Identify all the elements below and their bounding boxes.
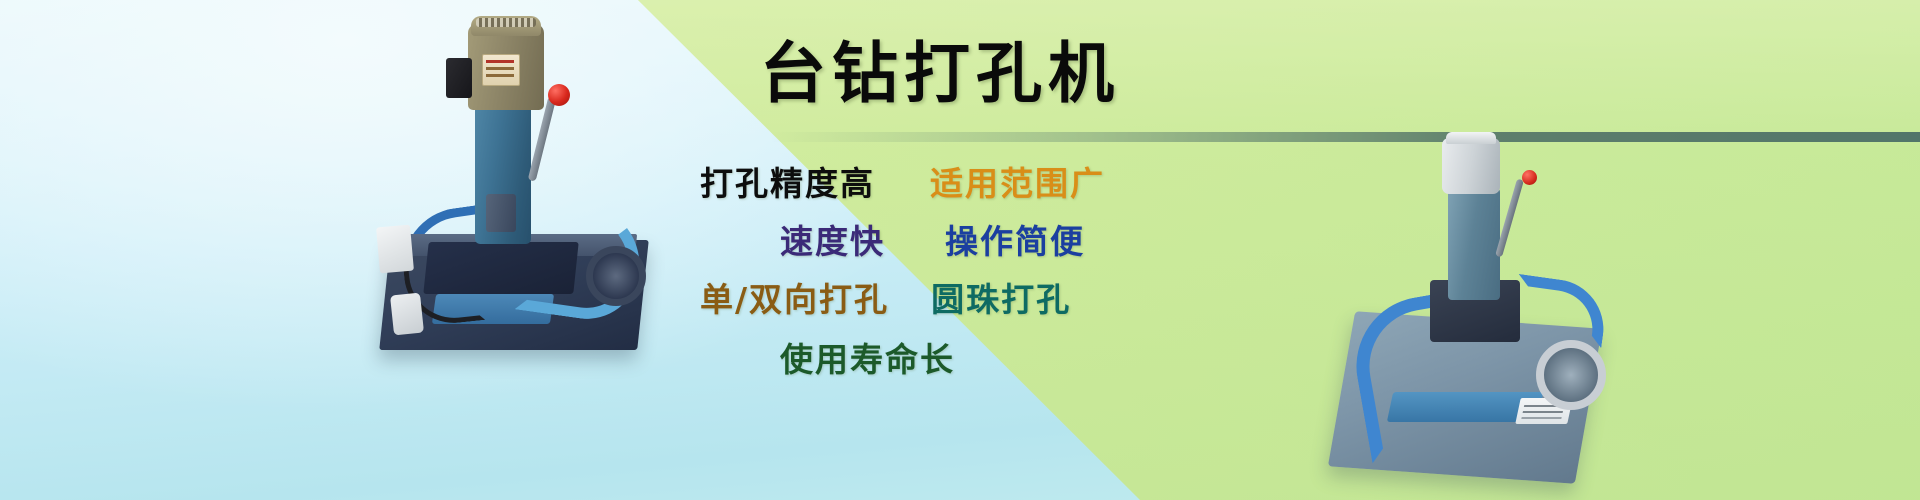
left-machine-nameplate xyxy=(482,54,520,86)
right-machine-motor xyxy=(1442,138,1500,194)
feature-item-1: 适用范围广 xyxy=(930,160,1105,208)
right-machine-photo xyxy=(1330,130,1630,500)
feature-item-4: 单/双向打孔 xyxy=(700,276,889,324)
feature-item-0: 打孔精度高 xyxy=(700,160,875,208)
left-machine-control-box xyxy=(376,225,414,274)
left-machine-photo xyxy=(370,8,660,368)
feature-list: 打孔精度高 适用范围广 速度快 操作简便 单/双向打孔 圆珠打孔 使用寿命长 xyxy=(700,160,1440,383)
feature-item-6: 使用寿命长 xyxy=(780,336,955,384)
left-machine-switch-box xyxy=(446,58,472,98)
left-machine-lever-knob xyxy=(548,84,570,106)
right-machine-motor-cap xyxy=(1446,132,1496,144)
feature-item-2: 速度快 xyxy=(780,218,885,266)
right-machine-column xyxy=(1448,188,1500,300)
left-machine-handwheel xyxy=(586,246,646,306)
right-machine-lever-knob xyxy=(1522,170,1537,185)
product-banner: 台钻打孔机 打孔精度高 适用范围广 速度快 操作简便 单/双向打孔 圆珠打孔 使… xyxy=(0,0,1920,500)
banner-title: 台钻打孔机 xyxy=(760,40,1460,106)
feature-row: 速度快 操作简便 xyxy=(700,218,1440,266)
left-machine-chuck xyxy=(486,194,516,232)
left-machine-pedal xyxy=(390,293,424,336)
feature-item-3: 操作简便 xyxy=(945,218,1085,266)
title-block: 台钻打孔机 xyxy=(760,40,1460,106)
right-machine-handwheel xyxy=(1536,340,1606,410)
feature-row: 打孔精度高 适用范围广 xyxy=(700,160,1440,208)
right-machine-hose-secondary xyxy=(1510,274,1610,348)
feature-item-5: 圆珠打孔 xyxy=(931,276,1071,324)
left-machine-vents xyxy=(476,18,536,27)
feature-row: 使用寿命长 xyxy=(700,336,1440,384)
feature-row: 单/双向打孔 圆珠打孔 xyxy=(700,276,1440,324)
